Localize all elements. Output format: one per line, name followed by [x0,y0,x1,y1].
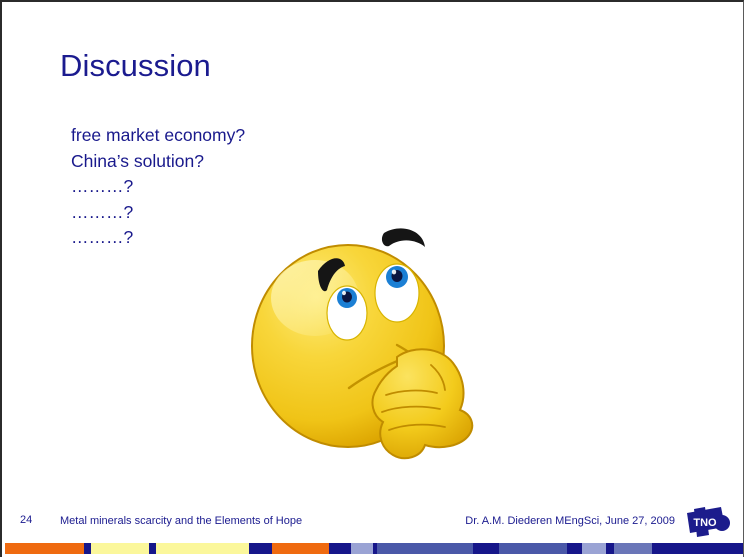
bottom-bar-segment-6 [272,543,330,554]
thinking-face-emoji [245,224,485,469]
bottom-bar-segment-14 [582,543,606,554]
bottom-bar-segment-5 [249,543,272,554]
footer-right-text: Dr. A.M. Diederen MEngSci, June 27, 2009 [465,515,675,527]
bottom-bar-segment-1 [84,543,91,554]
bottom-bar-segment-8 [351,543,373,554]
body-line-3: ………? [71,174,401,200]
bottom-bar-segment-16 [614,543,652,554]
page-title: Discussion [60,48,211,84]
bottom-color-bar [5,543,743,554]
presentation-slide: Discussion free market economy? China’s … [0,0,744,557]
body-line-1: free market economy? [71,123,401,149]
bottom-bar-segment-3 [149,543,156,554]
bottom-bar-segment-11 [473,543,499,554]
bottom-bar-segment-7 [329,543,351,554]
tno-logo-icon: TNO [681,505,733,539]
bottom-bar-segment-4 [156,543,249,554]
bottom-bar-segment-2 [91,543,149,554]
bottom-bar-segment-13 [567,543,582,554]
bottom-bar-segment-17 [652,543,743,554]
body-line-2: China’s solution? [71,149,401,175]
tno-logo-text: TNO [693,517,717,529]
bottom-bar-segment-12 [499,543,567,554]
bottom-bar-segment-10 [377,543,473,554]
body-line-4: ………? [71,200,401,226]
bottom-bar-segment-15 [606,543,614,554]
bottom-bar-segment-0 [5,543,84,554]
footer-left-text: Metal minerals scarcity and the Elements… [60,515,302,527]
footer-page-number: 24 [20,514,32,526]
